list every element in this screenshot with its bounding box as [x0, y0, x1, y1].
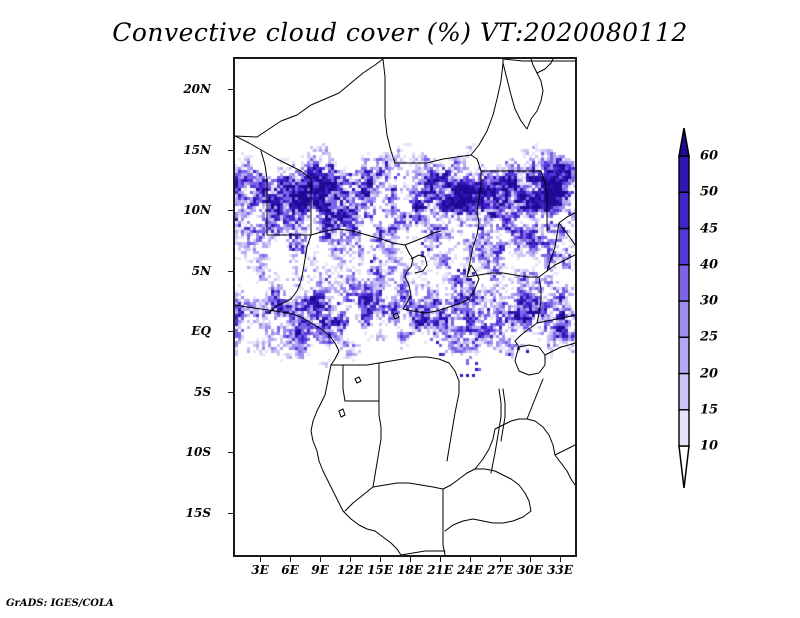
- x-axis-label: 15E: [367, 563, 393, 577]
- page-title: Convective cloud cover (%) VT:2020080112: [0, 18, 800, 47]
- x-axis-label: 18E: [397, 563, 423, 577]
- colorbar-label: 45: [700, 221, 718, 236]
- country-borders: [235, 59, 575, 555]
- grads-plot-root: Convective cloud cover (%) VT:2020080112: [0, 0, 800, 618]
- y-tick: [228, 452, 233, 453]
- colorbar-cap-low: [679, 446, 689, 488]
- x-tick: [410, 557, 411, 562]
- y-tick: [228, 150, 233, 151]
- x-tick: [530, 557, 531, 562]
- x-axis-label: 3E: [251, 563, 269, 577]
- footer-credit: GrADS: IGES/COLA: [6, 598, 114, 609]
- y-tick: [228, 210, 233, 211]
- y-axis-label: 15N: [183, 143, 211, 157]
- y-tick: [228, 392, 233, 393]
- colorbar-band: [679, 301, 689, 337]
- x-axis-label: 30E: [517, 563, 543, 577]
- x-axis-label: 24E: [457, 563, 483, 577]
- colorbar-band: [679, 410, 689, 446]
- y-axis-label: 10N: [183, 203, 211, 217]
- y-axis-label: 5S: [194, 385, 211, 399]
- x-tick: [320, 557, 321, 562]
- x-tick: [290, 557, 291, 562]
- colorbar-label: 50: [700, 185, 718, 200]
- y-tick: [228, 513, 233, 514]
- y-axis-label: 10S: [186, 445, 211, 459]
- x-axis-label: 27E: [487, 563, 513, 577]
- x-tick: [440, 557, 441, 562]
- x-tick: [350, 557, 351, 562]
- colorbar: 101520253040455060: [670, 128, 698, 488]
- colorbar-label: 30: [700, 294, 718, 309]
- colorbar-cap-high: [679, 128, 689, 156]
- map-panel: [233, 57, 577, 557]
- x-axis-label: 12E: [337, 563, 363, 577]
- colorbar-label: 40: [700, 257, 718, 272]
- colorbar-label: 20: [700, 366, 718, 381]
- y-tick: [228, 89, 233, 90]
- colorbar-band: [679, 192, 689, 228]
- x-axis-label: 21E: [427, 563, 453, 577]
- colorbar-band: [679, 374, 689, 410]
- colorbar-band: [679, 337, 689, 373]
- x-axis-label: 9E: [311, 563, 329, 577]
- x-tick: [500, 557, 501, 562]
- colorbar-band: [679, 265, 689, 301]
- y-axis-label: 5N: [192, 264, 211, 278]
- x-tick: [260, 557, 261, 562]
- y-tick: [228, 271, 233, 272]
- x-axis-label: 33E: [547, 563, 573, 577]
- y-axis-label: 15S: [186, 506, 211, 520]
- colorbar-band: [679, 156, 689, 192]
- y-axis-label: 20N: [183, 82, 211, 96]
- x-tick: [470, 557, 471, 562]
- y-axis-label: EQ: [191, 324, 211, 338]
- x-axis-label: 6E: [281, 563, 299, 577]
- x-tick: [560, 557, 561, 562]
- colorbar-label: 10: [700, 439, 718, 454]
- colorbar-label: 25: [700, 330, 718, 345]
- colorbar-label: 60: [700, 149, 718, 164]
- colorbar-label: 15: [700, 402, 718, 417]
- colorbar-band: [679, 229, 689, 265]
- x-tick: [380, 557, 381, 562]
- colorbar-swatches: [670, 128, 698, 488]
- map-inner: [235, 59, 575, 555]
- y-tick: [228, 331, 233, 332]
